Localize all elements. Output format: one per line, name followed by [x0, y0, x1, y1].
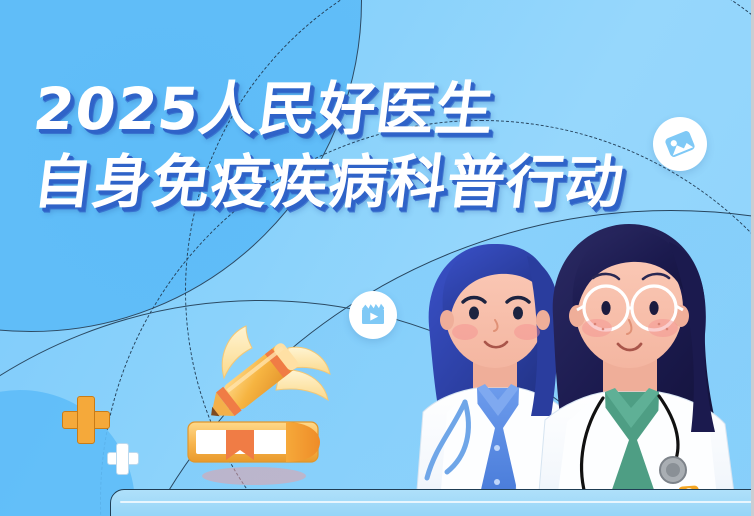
two-female-doctors-illustration: [407, 216, 754, 516]
plus-icon-bar-v: [77, 396, 95, 444]
title-line-primary: 2025人民好医生: [30, 78, 628, 141]
video-clapperboard-icon: [358, 300, 388, 330]
doctor-right: [537, 224, 748, 516]
plus-white: [107, 443, 137, 473]
page-title: 2025人民好医生 自身免疫疾病科普行动: [34, 78, 624, 213]
book-icon: [188, 422, 320, 462]
title-line-secondary: 自身免疫疾病科普行动: [30, 151, 628, 214]
image-badge[interactable]: [653, 117, 707, 171]
poster-banner: 2025人民好医生 自身免疫疾病科普行动: [0, 0, 754, 516]
stationery-illustration: [168, 304, 358, 494]
winged-pencil-icon: [202, 326, 330, 427]
plus-icon-bar-v: [116, 443, 129, 475]
plus-orange: [62, 396, 108, 442]
image-icon: [663, 127, 697, 161]
bottom-panel: [110, 489, 754, 516]
